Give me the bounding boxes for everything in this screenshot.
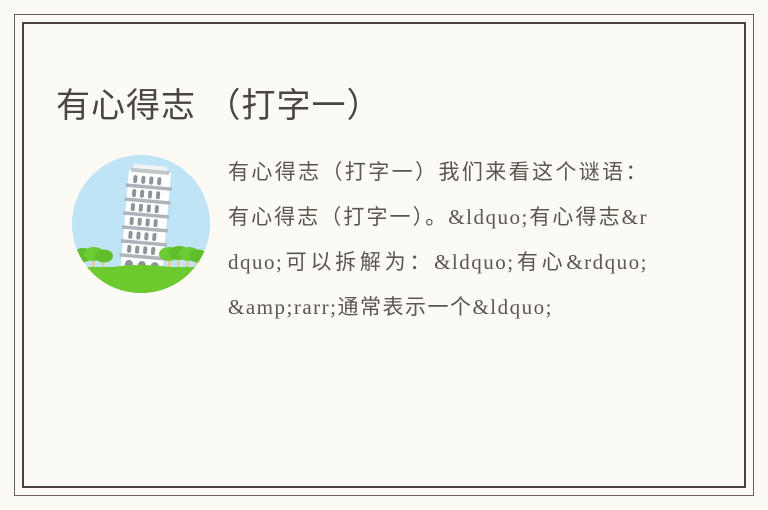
article-body: 有心得志（打字一）我们来看这个谜语：有心得志（打字一）。&ldquo;有心得志&… xyxy=(228,150,648,330)
page-title: 有心得志 （打字一） xyxy=(56,83,381,129)
leaning-tower-of-pisa-icon xyxy=(72,155,210,293)
page-root: 有心得志 （打字一） xyxy=(0,0,768,510)
article-content: 有心得志（打字一）我们来看这个谜语：有心得志（打字一）。&ldquo;有心得志&… xyxy=(56,150,712,330)
article-thumbnail[interactable] xyxy=(72,155,210,293)
